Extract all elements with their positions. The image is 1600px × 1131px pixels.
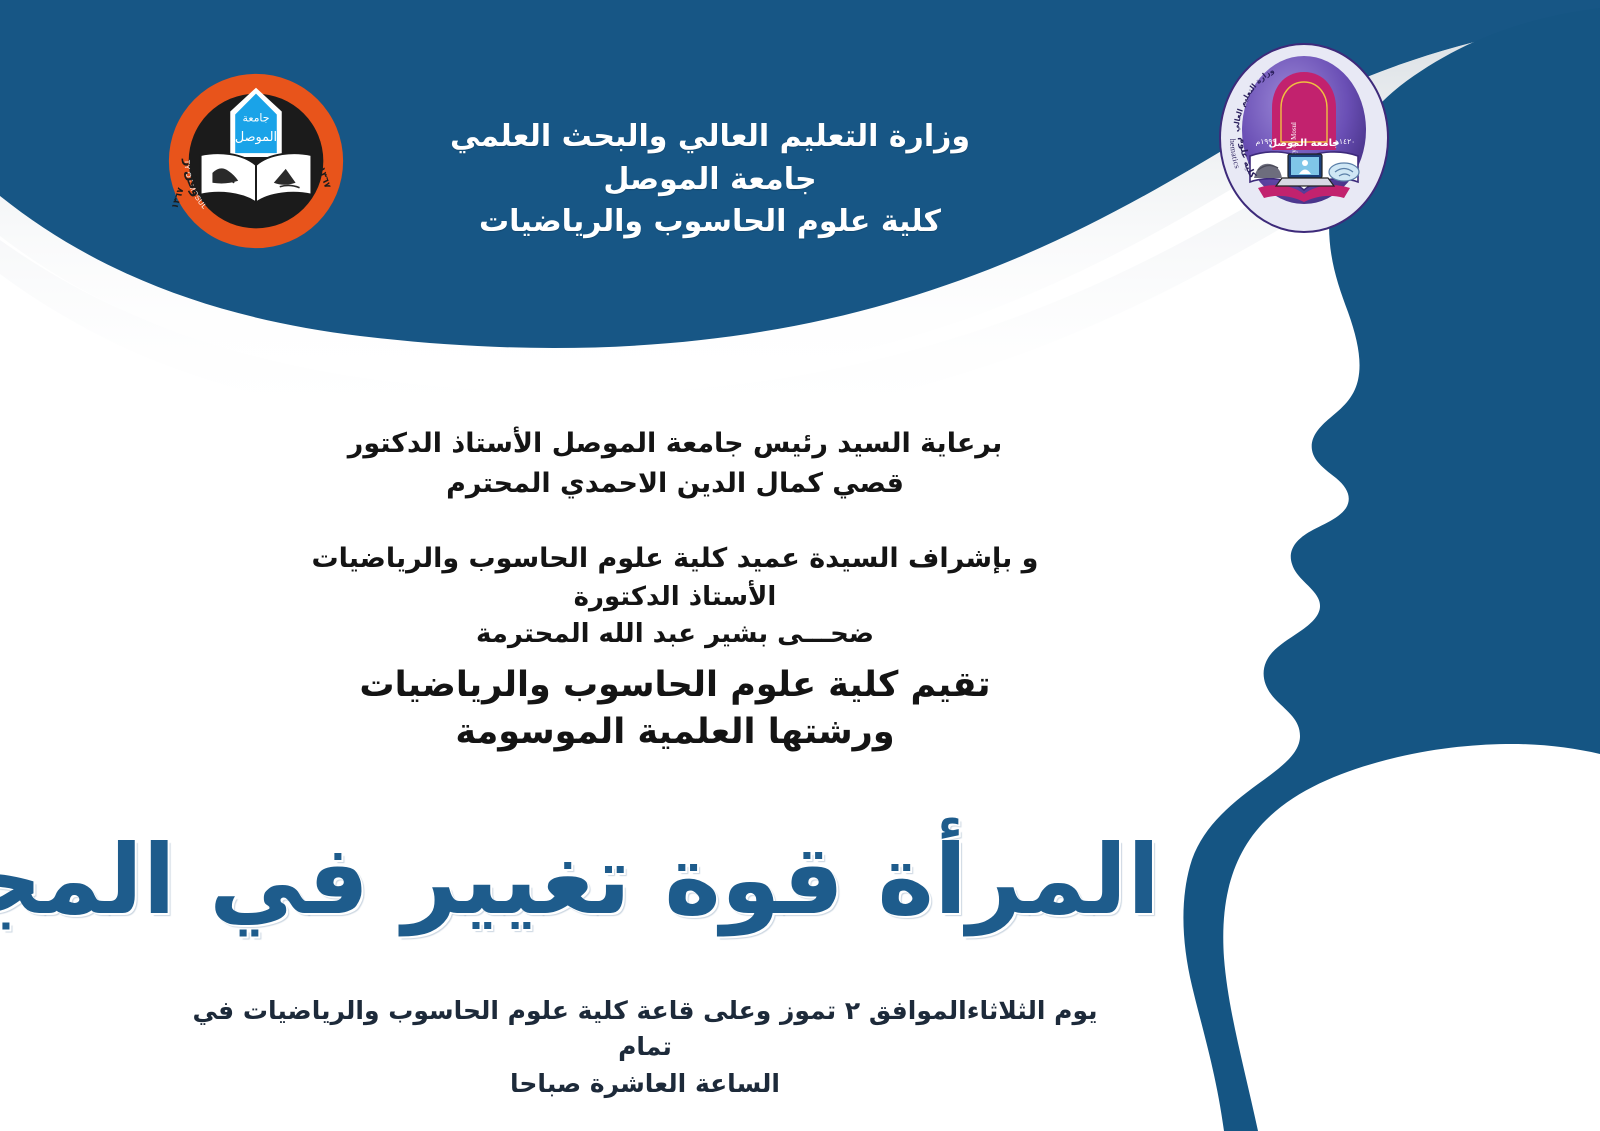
college-logo-gregorian-year: ١٩٩٩م <box>1256 137 1277 146</box>
event-date-venue-line: يوم الثلاثاءالموافق ٢ تموز وعلى قاعة كلي… <box>180 993 1110 1066</box>
supervision-line-2: الأستاذ الدكتورة <box>200 579 1150 616</box>
organizer-line-1: تقيم كلية علوم الحاسوب والرياضيات <box>200 662 1150 709</box>
college-logo-arch-inner <box>1281 82 1327 142</box>
college-logo-laptop-base <box>1276 178 1334 186</box>
workshop-title: المرأة قوة تغيير في المجتمع <box>90 828 1160 934</box>
university-line: جامعة الموصل <box>330 159 1090 202</box>
college-logo-university-text: جامعة الموصل <box>1268 138 1339 149</box>
organizer-block: تقيم كلية علوم الحاسوب والرياضيات ورشتها… <box>200 662 1150 756</box>
college-logo-screen-figure-head <box>1302 160 1308 166</box>
supervision-line-1: و بإشراف السيدة عميد كلية علوم الحاسوب و… <box>200 540 1150 579</box>
event-details-block: يوم الثلاثاءالموافق ٢ تموز وعلى قاعة كلي… <box>180 993 1110 1102</box>
college-logo-hijri-year: ١٤٢٠هـ <box>1332 137 1355 146</box>
event-poster: وزارة التعليم العالي والبحث العلمي جامعة… <box>0 0 1600 1131</box>
university-of-mosul-logo: جامعة الموصل UNIVERSITY OF MOSUL وقل رب … <box>157 62 355 260</box>
supervision-line-3: ضحـــى بشير عبد الله المحترمة <box>200 616 1150 653</box>
organizer-line-2: ورشتها العلمية الموسومة <box>200 709 1150 756</box>
college-logo: University of Mosul جامعة الموصل ١٤٢٠هـ … <box>1218 38 1390 238</box>
logo-arch-arabic-1: جامعة <box>243 111 270 124</box>
header-institution-text: وزارة التعليم العالي والبحث العلمي جامعة… <box>330 116 1090 244</box>
supervision-block: و بإشراف السيدة عميد كلية علوم الحاسوب و… <box>200 540 1150 654</box>
patron-block: برعاية السيد رئيس جامعة الموصل الأستاذ ا… <box>210 424 1140 504</box>
patron-line-1: برعاية السيد رئيس جامعة الموصل الأستاذ ا… <box>210 424 1140 464</box>
college-logo-cloud <box>1329 163 1359 181</box>
patron-line-2: قصي كمال الدين الاحمدي المحترم <box>210 464 1140 504</box>
logo-arch-arabic-2: الموصل <box>235 130 277 145</box>
college-line: كلية علوم الحاسوب والرياضيات <box>330 201 1090 244</box>
ministry-line: وزارة التعليم العالي والبحث العلمي <box>330 116 1090 159</box>
event-time-line: الساعة العاشرة صباحا <box>180 1066 1110 1102</box>
